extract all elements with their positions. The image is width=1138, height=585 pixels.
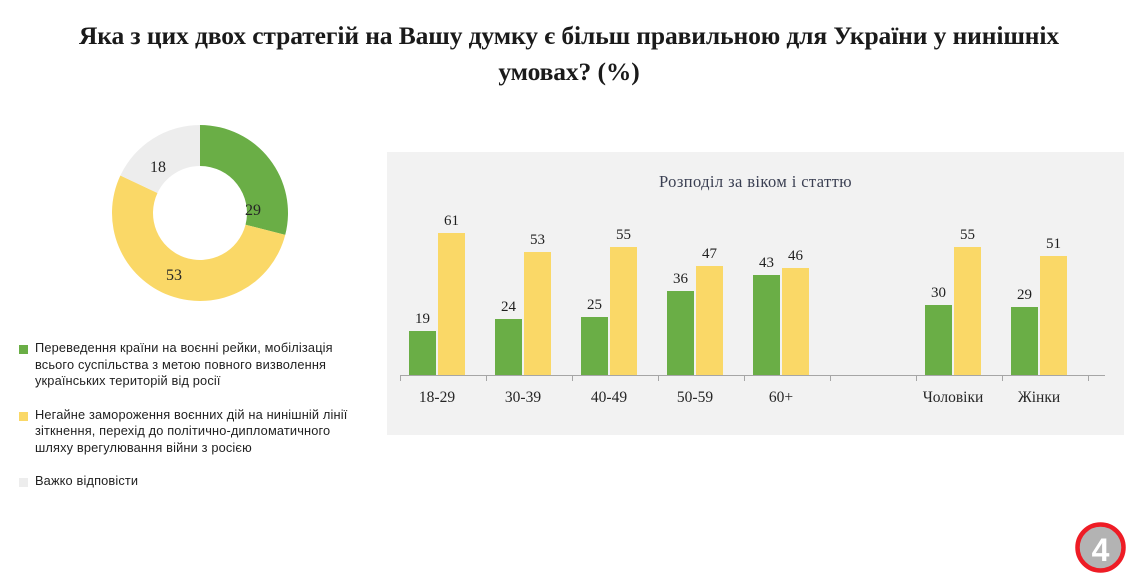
bar-war-footing <box>753 275 780 375</box>
bar-value-label: 29 <box>1005 287 1044 304</box>
bar-war-footing <box>409 331 436 375</box>
bar-value-label: 30 <box>919 285 958 302</box>
donut-value-war-footing: 29 <box>240 202 266 220</box>
legend-swatch-icon-gray <box>19 478 28 487</box>
donut-value-hard-to-answer: 18 <box>145 159 171 177</box>
channel-logo-icon: 4 <box>1073 520 1128 575</box>
x-axis-tick <box>1002 375 1003 381</box>
donut-value-freeze: 53 <box>161 267 187 285</box>
x-axis-category-label: 60+ <box>737 389 825 407</box>
x-axis-tick <box>400 375 401 381</box>
bar-freeze <box>1040 256 1067 375</box>
bar-freeze <box>782 268 809 375</box>
channel-logo-text: 4 <box>1092 532 1110 568</box>
x-axis-category-label: Жінки <box>995 389 1083 407</box>
x-axis-tick <box>486 375 487 381</box>
bar-value-label: 24 <box>489 299 528 316</box>
legend-item-freeze: Негайне замороження воєнних дій на ниніш… <box>19 407 369 457</box>
legend-label-hard-to-answer: Важко відповісти <box>35 473 138 490</box>
x-axis-tick <box>572 375 573 381</box>
x-axis-category-label: 40-49 <box>565 389 653 407</box>
bar-value-label: 51 <box>1034 236 1073 253</box>
x-axis-line <box>400 375 1105 376</box>
bar-war-footing <box>581 317 608 375</box>
bar-freeze <box>438 233 465 375</box>
x-axis-tick <box>830 375 831 381</box>
bar-freeze <box>610 247 637 375</box>
channel-logo: 4 <box>1073 520 1128 575</box>
x-axis-category-label: 50-59 <box>651 389 739 407</box>
legend-swatch-icon-green <box>19 345 28 354</box>
x-axis-tick <box>744 375 745 381</box>
x-axis-category-label: Чоловіки <box>909 389 997 407</box>
legend-swatch-icon-yellow <box>19 412 28 421</box>
breakdown-panel: Розподіл за віком і статтю 196118-292453… <box>387 152 1124 435</box>
legend-label-freeze: Негайне замороження воєнних дій на ниніш… <box>35 407 369 457</box>
bar-value-label: 25 <box>575 297 614 314</box>
bar-war-footing <box>925 305 952 375</box>
x-axis-tick <box>658 375 659 381</box>
bar-value-label: 19 <box>403 311 442 328</box>
legend: Переведення країни на воєнні рейки, мобі… <box>19 340 369 507</box>
legend-label-war-footing: Переведення країни на воєнні рейки, мобі… <box>35 340 369 390</box>
legend-item-hard-to-answer: Важко відповісти <box>19 473 369 490</box>
bar-freeze <box>954 247 981 375</box>
slide-root: Яка з цих двох стратегій на Вашу думку є… <box>0 0 1138 585</box>
legend-item-war-footing: Переведення країни на воєнні рейки, мобі… <box>19 340 369 390</box>
x-axis-tick <box>1088 375 1089 381</box>
bar-war-footing <box>495 319 522 375</box>
bar-value-label: 36 <box>661 271 700 288</box>
page-title: Яка з цих двох стратегій на Вашу думку є… <box>69 18 1069 90</box>
bar-value-label: 55 <box>948 227 987 244</box>
donut-chart: 18 29 53 <box>110 123 290 303</box>
bar-value-label: 46 <box>776 248 815 265</box>
bar-freeze <box>524 252 551 375</box>
x-axis-tick <box>916 375 917 381</box>
bar-war-footing <box>1011 307 1038 375</box>
bar-chart: 196118-29245330-39255540-49364750-594346… <box>387 152 1124 435</box>
bar-value-label: 55 <box>604 227 643 244</box>
bar-war-footing <box>667 291 694 375</box>
bar-freeze <box>696 266 723 375</box>
x-axis-category-label: 18-29 <box>393 389 481 407</box>
bar-value-label: 61 <box>432 213 471 230</box>
x-axis-category-label: 30-39 <box>479 389 567 407</box>
bar-value-label: 53 <box>518 232 557 249</box>
bar-value-label: 47 <box>690 246 729 263</box>
